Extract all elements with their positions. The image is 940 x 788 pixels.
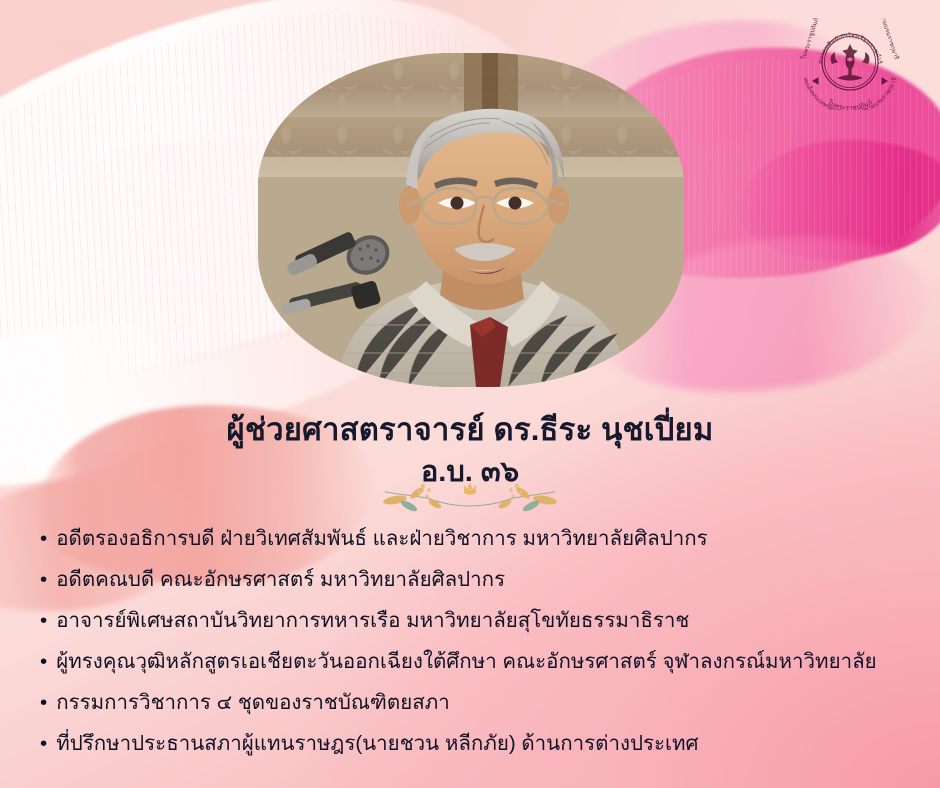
list-item-label: กรรมการวิชาการ ๔ ชุดของราชบัณฑิตยสภา <box>56 690 450 715</box>
list-item: • อดีตคณบดี คณะอักษรศาสตร์ มหาวิทยาลัยศิ… <box>40 567 920 592</box>
profile-card: สมาคมศิษย์เก่าโรงเรียนราชดำริ ในพระราชูป… <box>0 0 940 788</box>
portrait-illustration <box>258 53 684 387</box>
list-item-label: อาจารย์พิเศษสถาบันวิทยาการทหารเรือ มหาวิ… <box>56 608 689 633</box>
page-title: ผู้ช่วยศาสตราจารย์ ดร.ธีระ นุชเปี่ยม <box>0 404 940 454</box>
bullet-marker: • <box>40 731 47 756</box>
list-item: • อาจารย์พิเศษสถาบันวิทยาการทหารเรือ มหา… <box>40 608 920 633</box>
portrait-photo <box>258 53 684 387</box>
bullet-marker: • <box>40 526 47 551</box>
seal-center-motif <box>831 44 870 81</box>
list-item-label: ที่ปรึกษาประธานสภาผู้แทนราษฎร(นายชวน หลี… <box>56 731 698 756</box>
floral-divider-ornament <box>365 476 575 516</box>
list-item: • อดีตรองอธิการบดี ฝ่ายวิเทศสัมพันธ์ และ… <box>40 526 920 551</box>
royal-seal-emblem: สมาคมศิษย์เก่าโรงเรียนราชดำริ ในพระราชูป… <box>796 18 904 110</box>
bullet-marker: • <box>40 608 47 633</box>
bullet-marker: • <box>40 649 47 674</box>
center-flower-icon <box>464 482 476 495</box>
list-item: • กรรมการวิชาการ ๔ ชุดของราชบัณฑิตยสภา <box>40 690 920 715</box>
list-item: • ที่ปรึกษาประธานสภาผู้แทนราษฎร(นายชวน ห… <box>40 731 920 756</box>
list-item-label: อดีตคณบดี คณะอักษรศาสตร์ มหาวิทยาลัยศิลป… <box>56 567 505 592</box>
brush-stroke-pink-dark <box>736 133 940 268</box>
seal-left-text: ในพระราชูปถัมภ์ <box>799 18 820 61</box>
credentials-list: • อดีตรองอธิการบดี ฝ่ายวิเทศสัมพันธ์ และ… <box>40 526 920 772</box>
bullet-marker: • <box>40 567 47 592</box>
list-item: • ผู้ทรงคุณวุฒิหลักสูตรเอเชียตะวันออกเฉี… <box>40 649 920 674</box>
list-item-label: ผู้ทรงคุณวุฒิหลักสูตรเอเชียตะวันออกเฉียง… <box>56 649 876 674</box>
bullet-marker: • <box>40 690 47 715</box>
list-item-label: อดีตรองอธิการบดี ฝ่ายวิเทศสัมพันธ์ และฝ่… <box>56 526 707 551</box>
